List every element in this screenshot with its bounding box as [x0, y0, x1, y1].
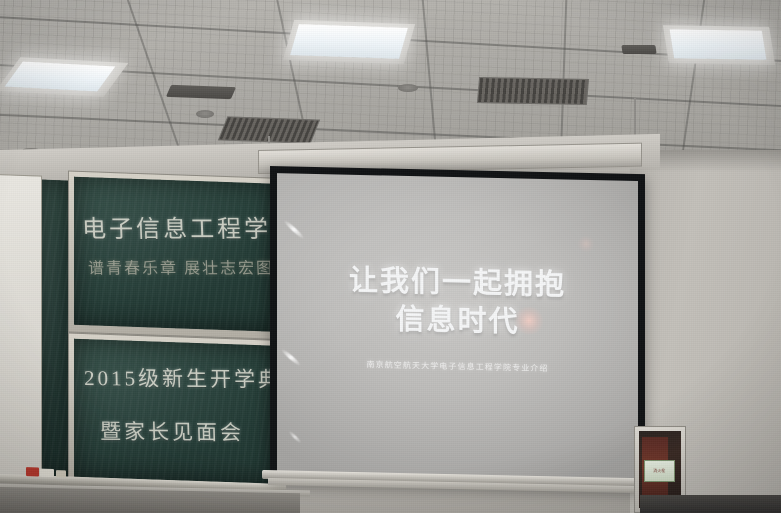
classroom-photo-scene: 电子信息工程学院 谱青春乐章 展壮志宏图 2015级新生开学典礼 暨家长见面会 …	[0, 0, 781, 513]
ceiling-speaker-icon	[196, 110, 214, 118]
slide-title-line2: 信息时代	[277, 293, 638, 343]
projection-screen-surface[interactable]: 让我们一起拥抱 信息时代 南京航空航天大学电子信息工程学院专业介绍	[277, 173, 638, 480]
blackboard-track-panel	[42, 180, 68, 477]
projection-screen-frame: 让我们一起拥抱 信息时代 南京航空航天大学电子信息工程学院专业介绍	[270, 166, 645, 489]
blackboard-upper-line2: 谱青春乐章 展壮志宏图	[88, 254, 275, 278]
air-vent-right-icon	[477, 77, 589, 105]
blackboard-lower-line1: 2015级新生开学典礼	[84, 362, 278, 394]
blackboard-lower-line2: 暨家长见面会	[100, 416, 245, 447]
blackboard-assembly: 电子信息工程学院 谱青春乐章 展壮志宏图 2015级新生开学典礼 暨家长见面会	[0, 168, 288, 498]
ceiling-speaker-right-icon	[398, 84, 418, 92]
ceiling-light-right	[670, 29, 767, 60]
floor-strip	[640, 495, 781, 513]
lens-flare-spot-small	[577, 236, 595, 252]
reflection-streak	[288, 430, 302, 443]
ceiling-slot-dark-right-icon	[621, 45, 656, 54]
ceiling-light-left	[5, 62, 116, 92]
whiteboard-side-panel[interactable]	[0, 174, 42, 478]
lens-flare-spot	[514, 306, 544, 335]
blackboard-lower[interactable]: 2015级新生开学典礼 暨家长见面会	[74, 339, 278, 484]
chalk-tray-item-eraser	[56, 470, 66, 477]
ceiling-slot-dark-icon	[166, 85, 236, 99]
blackboard-upper[interactable]: 电子信息工程学院 谱青春乐章 展壮志宏图	[74, 177, 278, 332]
blackboard-upper-line1: 电子信息工程学院	[81, 209, 278, 244]
cabinet-sign: 消火栓	[644, 460, 675, 482]
chalk-tray-item-white	[40, 469, 54, 477]
ceiling-light-center	[290, 24, 408, 59]
chalk-tray-item-red	[26, 467, 39, 476]
reflection-streak	[283, 219, 305, 240]
slide-subtitle: 南京航空航天大学电子信息工程学院专业介绍	[277, 357, 638, 376]
